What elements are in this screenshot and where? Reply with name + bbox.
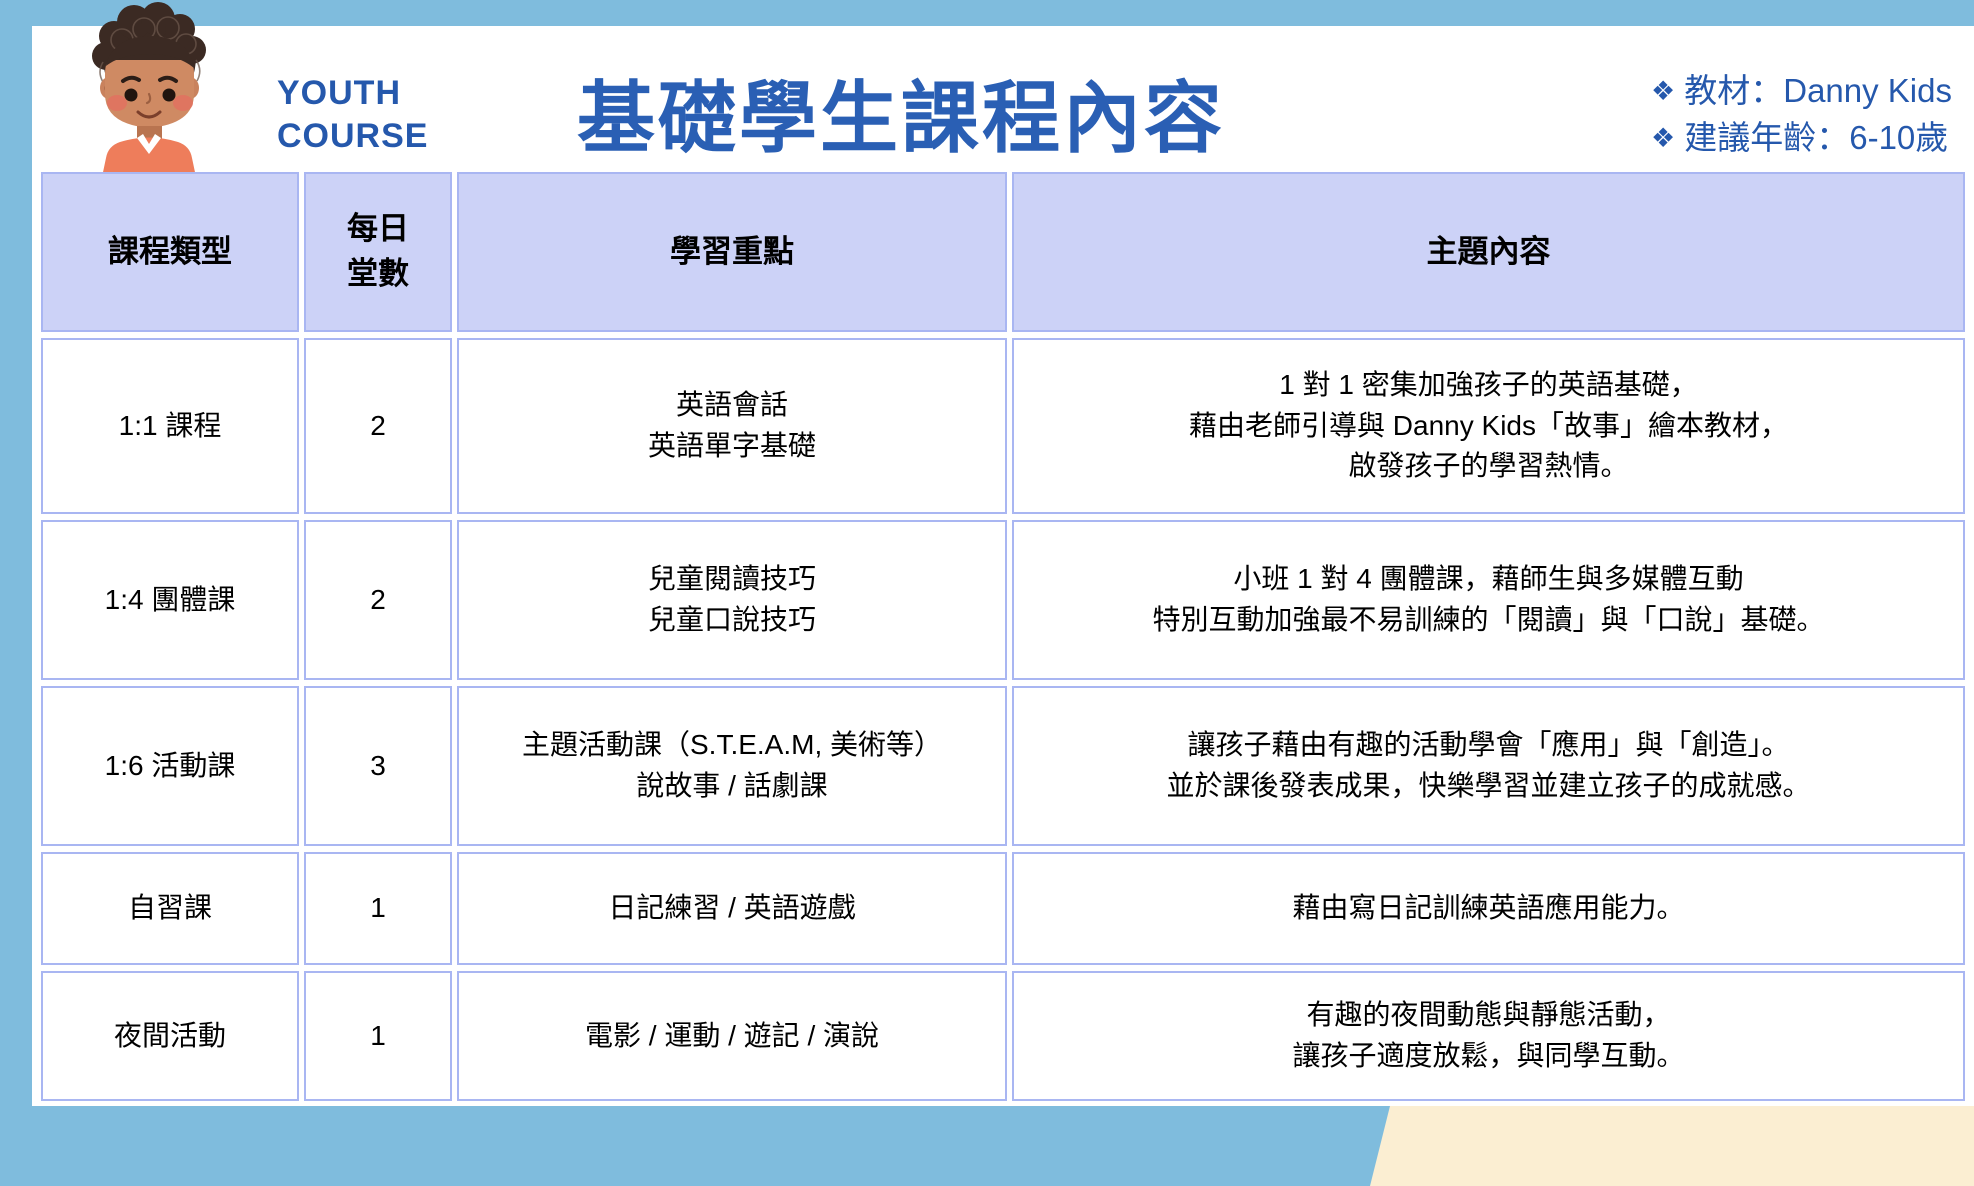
- brand-line-2: COURSE: [277, 115, 428, 158]
- cell-course-type: 自習課: [41, 852, 299, 965]
- column-header-daily-sessions: 每日 堂數: [304, 172, 452, 332]
- cell-theme-content: 1 對 1 密集加強孩子的英語基礎， 藉由老師引導與 Danny Kids「故事…: [1012, 338, 1965, 514]
- table-row: 夜間活動 1 電影 / 運動 / 遊記 / 演說 有趣的夜間動態與靜態活動， 讓…: [41, 971, 1965, 1101]
- info-item-material: ❖ 教材：Danny Kids: [1651, 68, 1952, 115]
- info-item-material-label: 教材：Danny Kids: [1684, 68, 1952, 115]
- table-row: 自習課 1 日記練習 / 英語遊戲 藉由寫日記訓練英語應用能力。: [41, 852, 1965, 965]
- cell-theme-content: 小班 1 對 4 團體課，藉師生與多媒體互動 特別互動加強最不易訓練的「閱讀」與…: [1012, 520, 1965, 680]
- cell-learning-focus: 英語會話 英語單字基礎: [457, 338, 1007, 514]
- cell-daily-sessions: 2: [304, 338, 452, 514]
- cell-theme-content: 讓孩子藉由有趣的活動學會「應用」與「創造」。 並於課後發表成果，快樂學習並建立孩…: [1012, 686, 1965, 846]
- cell-daily-sessions: 3: [304, 686, 452, 846]
- cell-course-type: 1:6 活動課: [41, 686, 299, 846]
- info-list: ❖ 教材：Danny Kids ❖ 建議年齡：6-10歲: [1651, 68, 1952, 162]
- course-table: 課程類型 每日 堂數 學習重點 主題內容 1:1 課程 2 英語會話 英語單字基…: [36, 166, 1970, 1107]
- diamond-bullet-icon: ❖: [1651, 78, 1675, 105]
- table-row: 1:6 活動課 3 主題活動課（S.T.E.A.M, 美術等） 說故事 / 話劇…: [41, 686, 1965, 846]
- slide-header: YOUTH COURSE 基礎學生課程內容 ❖ 教材：Danny Kids ❖ …: [32, 26, 1974, 176]
- slide-card: YOUTH COURSE 基礎學生課程內容 ❖ 教材：Danny Kids ❖ …: [32, 26, 1974, 1106]
- diamond-bullet-icon: ❖: [1651, 125, 1675, 152]
- info-item-age: ❖ 建議年齡：6-10歲: [1651, 115, 1952, 162]
- info-item-age-label: 建議年齡：6-10歲: [1684, 115, 1948, 162]
- brand-logotype: YOUTH COURSE: [277, 72, 428, 158]
- cell-course-type: 1:4 團體課: [41, 520, 299, 680]
- column-header-course-type: 課程類型: [41, 172, 299, 332]
- table-row: 1:1 課程 2 英語會話 英語單字基礎 1 對 1 密集加強孩子的英語基礎， …: [41, 338, 1965, 514]
- table-row: 1:4 團體課 2 兒童閱讀技巧 兒童口說技巧 小班 1 對 4 團體課，藉師生…: [41, 520, 1965, 680]
- cell-daily-sessions: 1: [304, 852, 452, 965]
- cell-daily-sessions: 2: [304, 520, 452, 680]
- column-header-learning-focus: 學習重點: [457, 172, 1007, 332]
- boy-avatar-icon: [62, 2, 237, 177]
- cell-course-type: 夜間活動: [41, 971, 299, 1101]
- cell-course-type: 1:1 課程: [41, 338, 299, 514]
- cell-theme-content: 有趣的夜間動態與靜態活動， 讓孩子適度放鬆，與同學互動。: [1012, 971, 1965, 1101]
- cell-learning-focus: 主題活動課（S.T.E.A.M, 美術等） 說故事 / 話劇課: [457, 686, 1007, 846]
- column-header-theme-content: 主題內容: [1012, 172, 1965, 332]
- cell-learning-focus: 兒童閱讀技巧 兒童口說技巧: [457, 520, 1007, 680]
- brand-line-1: YOUTH: [277, 72, 428, 115]
- cell-learning-focus: 日記練習 / 英語遊戲: [457, 852, 1007, 965]
- table-header-row: 課程類型 每日 堂數 學習重點 主題內容: [41, 172, 1965, 332]
- page-title: 基礎學生課程內容: [577, 56, 1225, 168]
- cell-daily-sessions: 1: [304, 971, 452, 1101]
- cell-theme-content: 藉由寫日記訓練英語應用能力。: [1012, 852, 1965, 965]
- cell-learning-focus: 電影 / 運動 / 遊記 / 演說: [457, 971, 1007, 1101]
